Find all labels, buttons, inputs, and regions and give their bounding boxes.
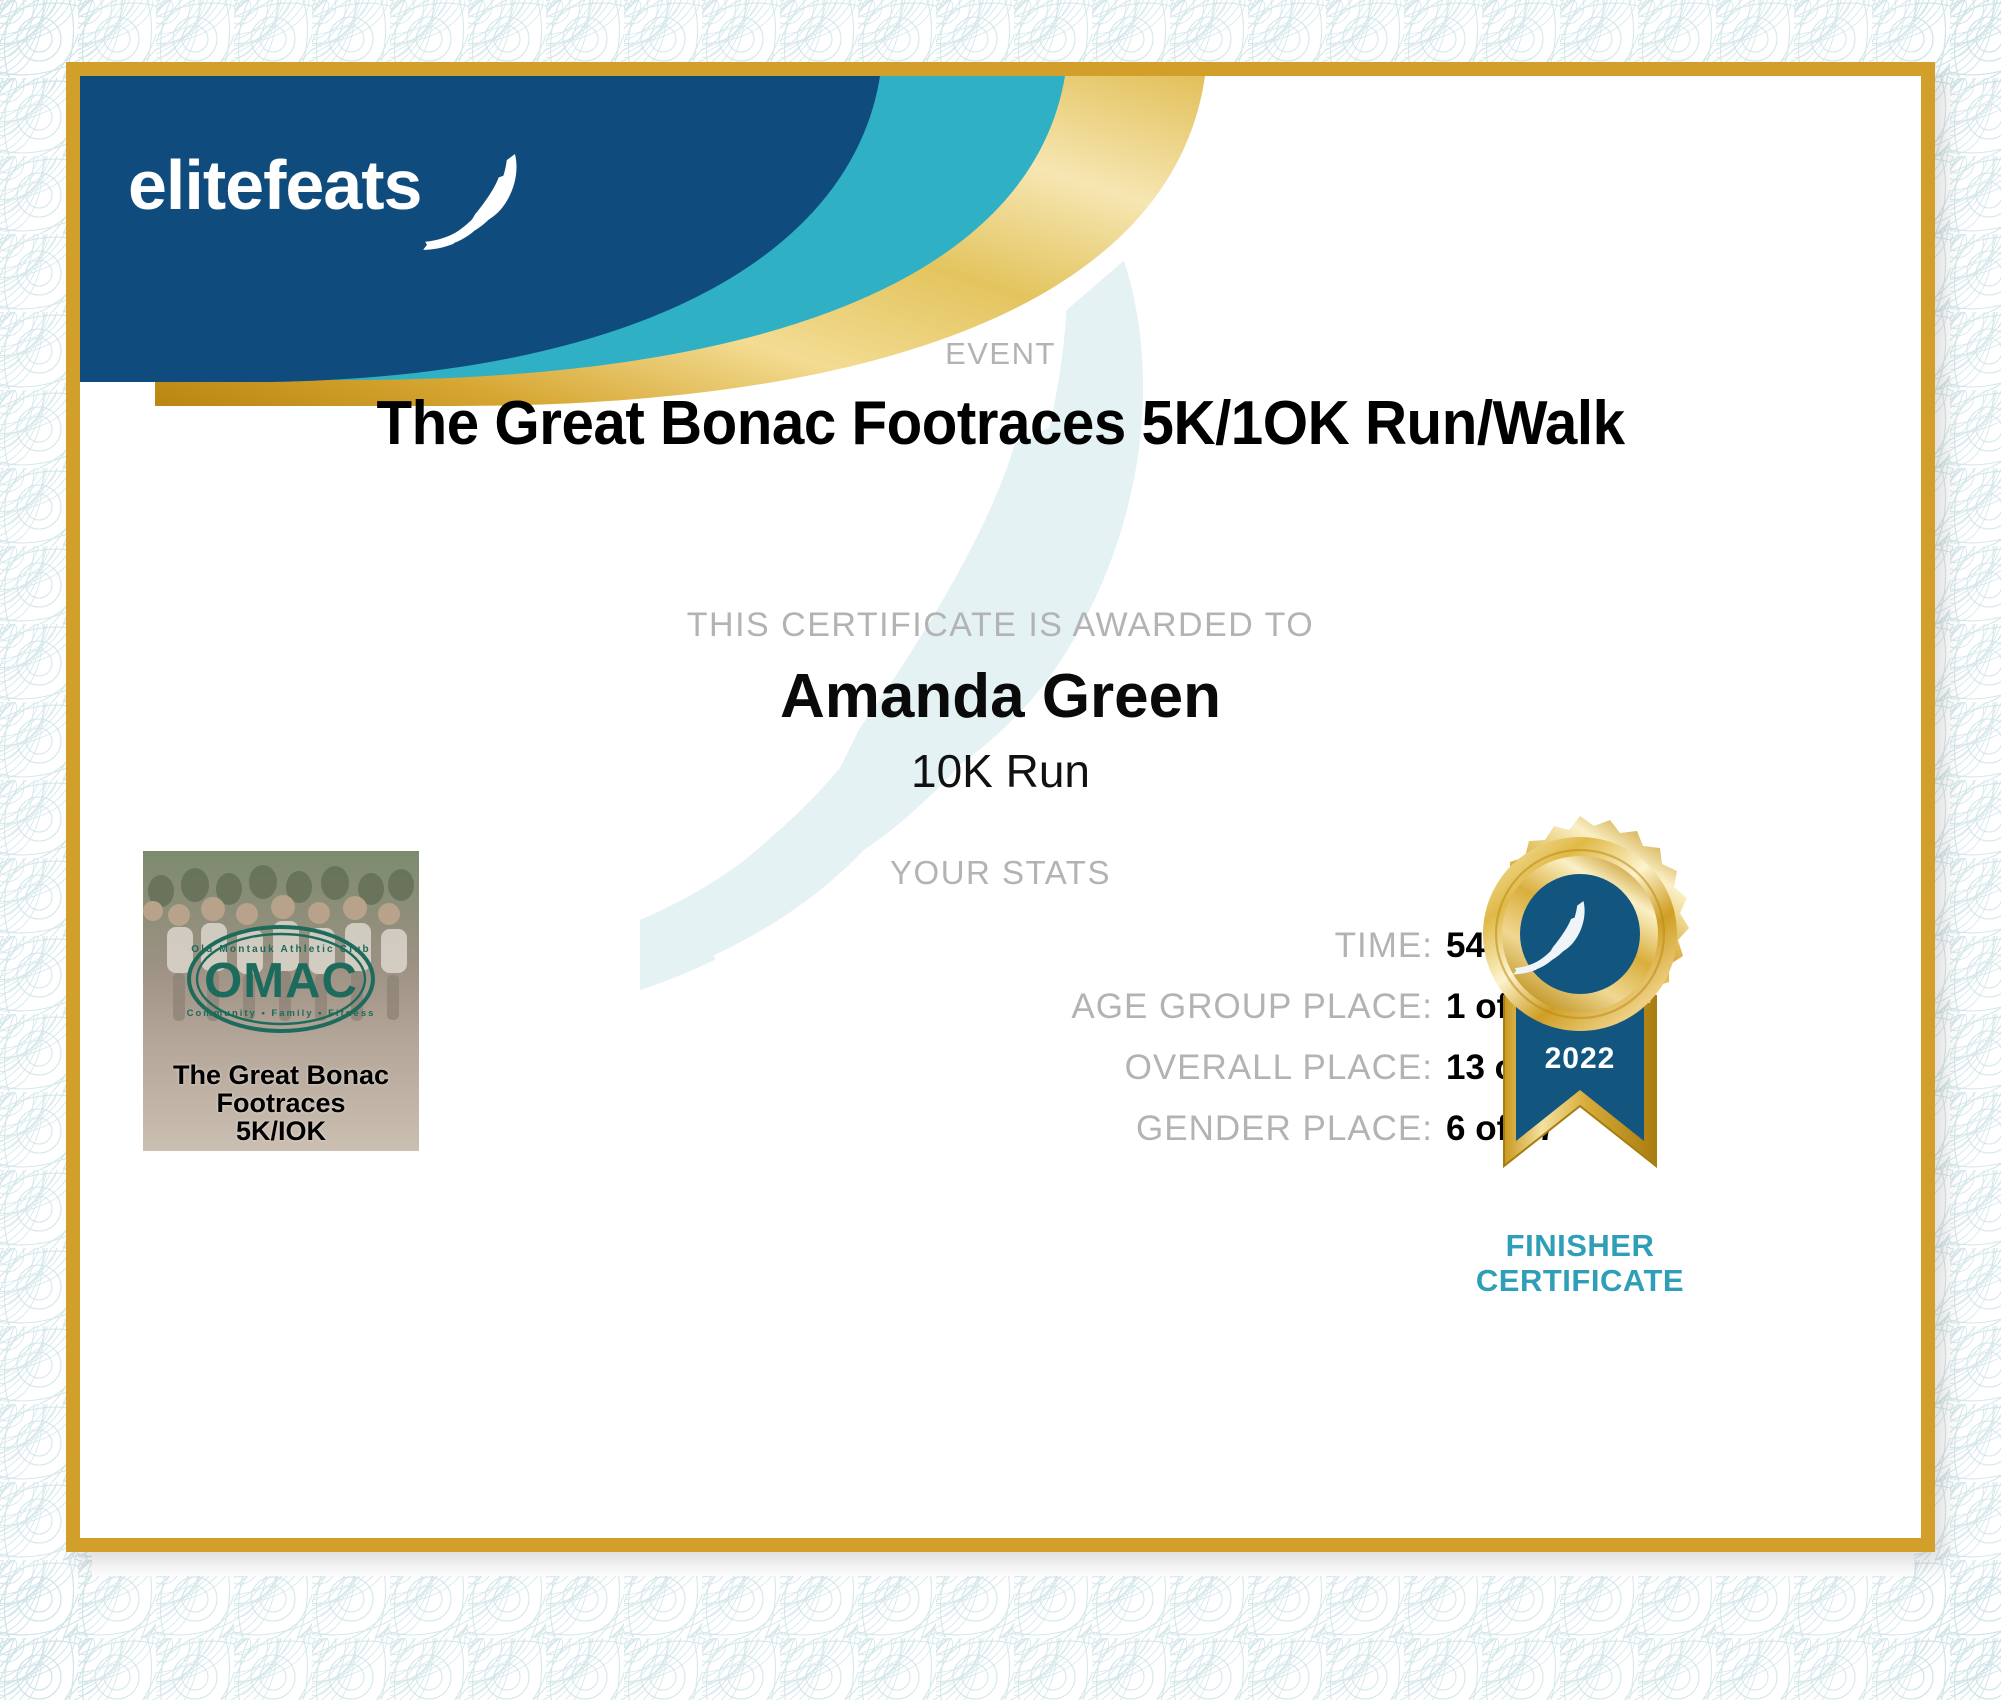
svg-text:OMAC: OMAC <box>204 954 358 1008</box>
finisher-caption: FINISHER CERTIFICATE <box>1360 1228 1800 1298</box>
certificate-frame: elitefeats EVENT The Great Bonac Footrac… <box>66 62 1935 1552</box>
svg-text:Community • Family • Fitness: Community • Family • Fitness <box>187 1008 376 1019</box>
awarded-to-label: THIS CERTIFICATE IS AWARDED TO <box>80 606 1921 645</box>
certificate-content: EVENT The Great Bonac Footraces 5K/1OK R… <box>80 76 1921 1538</box>
event-label: EVENT <box>80 336 1921 372</box>
stat-key: OVERALL PLACE: <box>1125 1048 1433 1088</box>
stat-key: TIME: <box>1335 926 1433 966</box>
race-logo-caption-line1: The Great Bonac <box>143 1061 419 1089</box>
race-logo-caption-line3: 5K/IOK <box>143 1117 419 1145</box>
finisher-caption-line2: CERTIFICATE <box>1360 1263 1800 1298</box>
recipient-name: Amanda Green <box>80 661 1921 732</box>
stat-key: AGE GROUP PLACE: <box>1071 987 1433 1027</box>
race-logo-caption-line2: Footraces <box>143 1089 419 1117</box>
race-logo-image: Old Montauk Athletic Club OMAC Community… <box>143 851 419 1151</box>
recipient-division: 10K Run <box>80 744 1921 798</box>
finisher-badge: 2022 <box>1440 816 1720 1216</box>
stat-key: GENDER PLACE: <box>1136 1109 1433 1149</box>
race-logo-caption: The Great Bonac Footraces 5K/IOK <box>143 1061 419 1145</box>
event-title: The Great Bonac Footraces 5K/1OK Run/Wal… <box>135 388 1866 459</box>
finisher-caption-line1: FINISHER <box>1360 1228 1800 1263</box>
